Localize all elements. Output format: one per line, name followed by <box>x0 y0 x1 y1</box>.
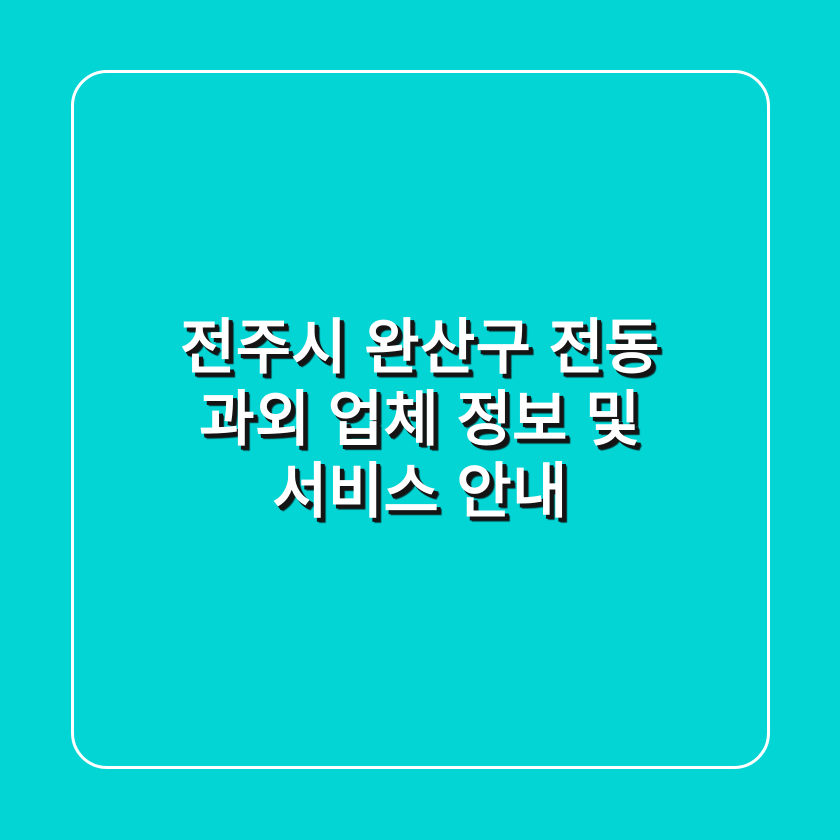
headline-line-3: 서비스 안내 <box>272 456 568 528</box>
poster-canvas: 전주시 완산구 전동 과외 업체 정보 및 서비스 안내 <box>0 0 840 840</box>
headline-block: 전주시 완산구 전동 과외 업체 정보 및 서비스 안내 <box>0 0 840 840</box>
headline-line-1: 전주시 완산구 전동 <box>180 312 660 384</box>
headline-line-2: 과외 업체 정보 및 <box>199 384 640 456</box>
